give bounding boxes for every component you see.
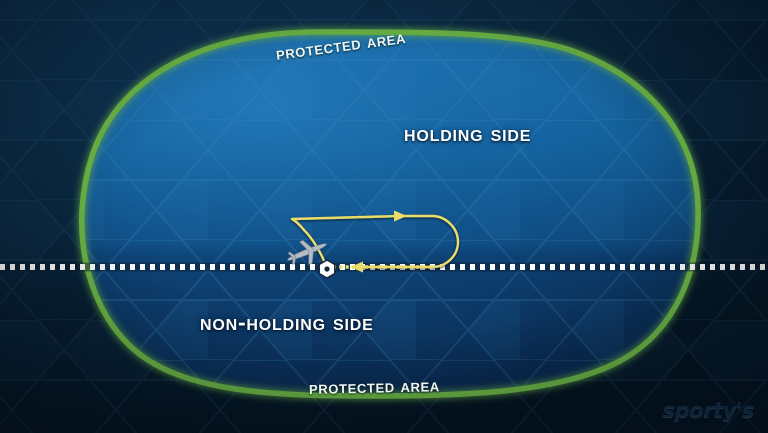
label-protected-area-bottom: Protected Area [309, 375, 440, 399]
holding-pattern-diagram: Protected Area Holding Side Non-Holding … [0, 0, 768, 433]
label-holding-side: Holding Side [404, 120, 531, 147]
label-non-holding-side: Non-Holding Side [200, 309, 374, 336]
sportys-watermark: sporty's [662, 398, 754, 422]
diagram-canvas [0, 0, 768, 433]
hexagon-fix-icon [319, 260, 335, 278]
